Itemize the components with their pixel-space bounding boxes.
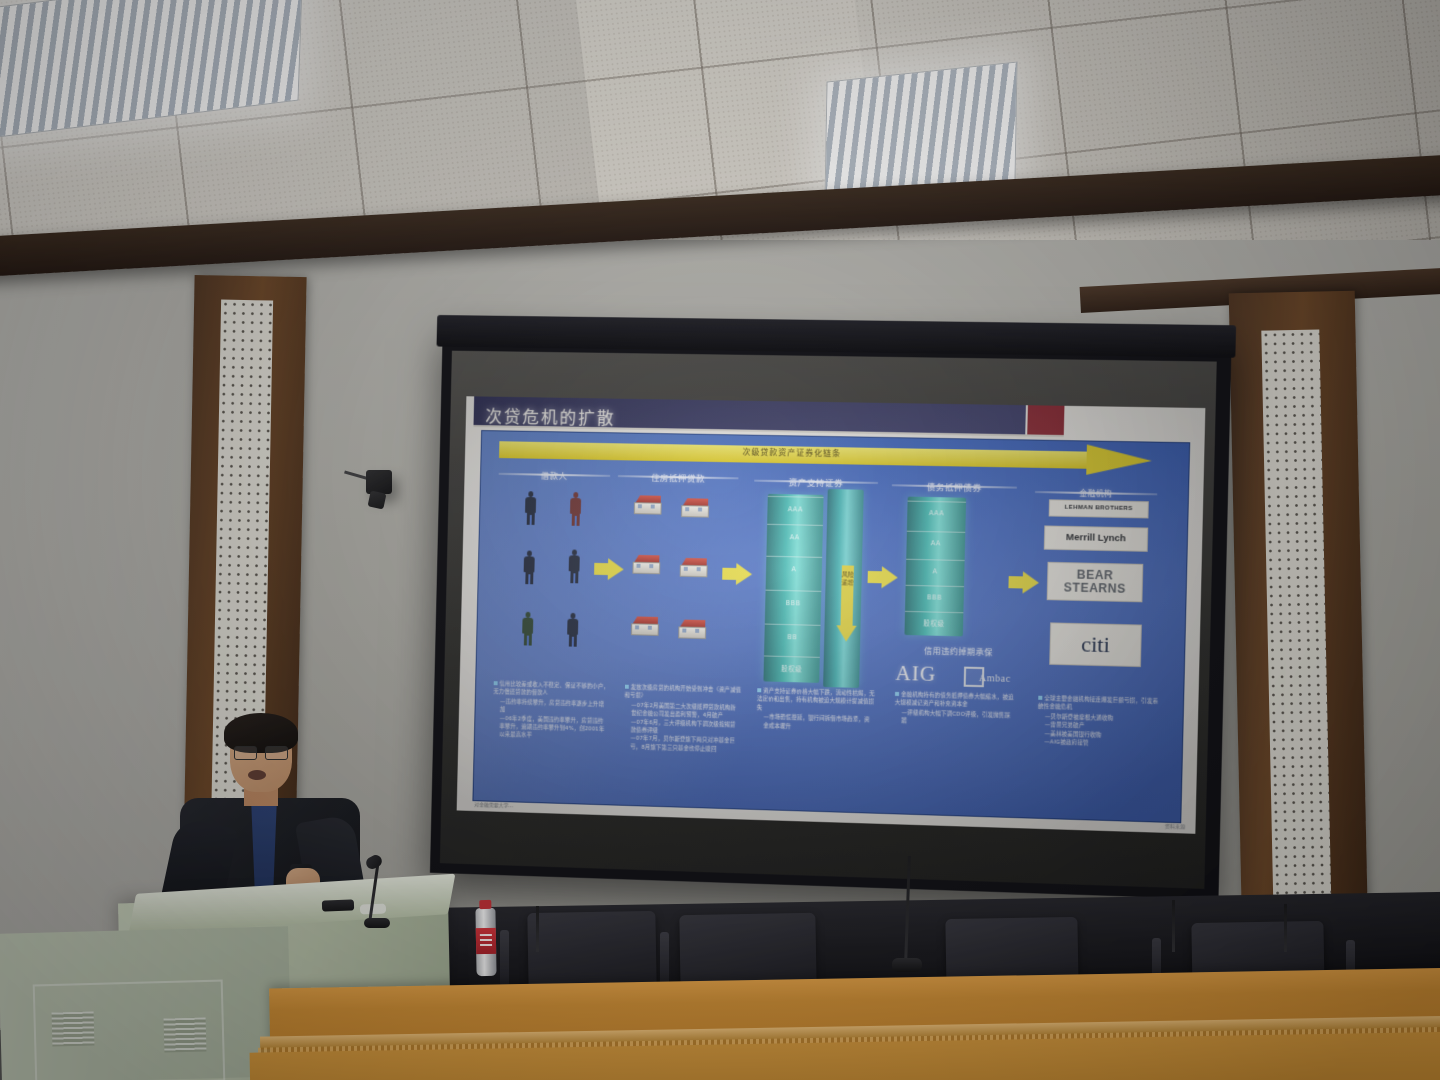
- house-icon: [679, 558, 707, 576]
- chair: [527, 911, 656, 991]
- tranche-label: A: [766, 556, 822, 582]
- water-bottle: [475, 908, 496, 976]
- podium-vent: [164, 1017, 207, 1052]
- bullet-column-mortgages: 发放次级房贷的机构开始受到冲击（资产减值和亏损） —07年2月美国第二大次级抵押…: [623, 684, 741, 755]
- house-icon: [631, 555, 659, 572]
- logo-bear-stearns: BEAR STEARNS: [1047, 562, 1144, 603]
- table-microphone-stem: [536, 906, 539, 952]
- tranche-label: AAA: [907, 501, 966, 525]
- bullet-column-abs: 资产支持证券价格大幅下跌，流动性枯竭，无法定价和出售，持有机构被迫大规模计提减值…: [756, 687, 875, 733]
- table-microphone-stem: [1284, 904, 1287, 952]
- bullet-column-institutions: 全球主要金融机构接连爆发巨额亏损，引发系统性金融危机 —贝尔斯登被摩根大通收购 …: [1037, 695, 1160, 750]
- tranche-label: BBB: [765, 590, 821, 616]
- tranche-label: BB: [764, 624, 820, 650]
- slide-footer-right: 资料来源: [1165, 823, 1186, 831]
- arrow-icon-borrowers-to-mortgages: [594, 558, 624, 580]
- presenter-mouth: [248, 770, 266, 780]
- projection-screen: 次贷危机的扩散 次级贷款资产证券化链条 借款人 住房抵押贷款 资产支持证券 债务…: [430, 321, 1232, 900]
- tranche-label: AAA: [767, 496, 823, 522]
- abs-tranche-stack: AAA AA A BBB BB 股权级: [763, 494, 823, 683]
- tranche-label: A: [906, 559, 965, 583]
- tranche-label: AA: [767, 524, 823, 550]
- house-icon: [680, 498, 708, 515]
- glasses-icon: [234, 746, 288, 758]
- bottle-cap: [479, 900, 491, 909]
- house-icon: [630, 616, 658, 634]
- house-icon: [633, 495, 661, 512]
- ambac-label: Ambac: [979, 673, 1011, 685]
- logo-merrill-lynch: Merrill Lynch: [1044, 525, 1148, 551]
- aig-logo: AIG: [895, 661, 936, 687]
- tranche-label: 股权级: [904, 611, 963, 635]
- borrower-silhouette-icon: [568, 549, 580, 583]
- borrower-silhouette-icon: [522, 612, 534, 646]
- table-microphone-base: [892, 958, 922, 972]
- diagram-board: 次级贷款资产证券化链条 借款人 住房抵押贷款 资产支持证券 债务抵押债券 金融机…: [472, 430, 1190, 823]
- projected-slide: 次贷危机的扩散 次级贷款资产证券化链条 借款人 住房抵押贷款 资产支持证券 债务…: [457, 396, 1206, 834]
- arrow-icon-abs-to-cdo: [867, 566, 898, 589]
- arrow-icon-mortgages-to-abs: [722, 563, 752, 586]
- borrower-silhouette-icon: [567, 613, 579, 647]
- wall-camera-icon: [366, 470, 392, 494]
- chair-post: [500, 930, 509, 986]
- slide-footer-left: 对金融需要大学…: [474, 801, 513, 809]
- podium-vent: [52, 1011, 95, 1046]
- house-icon: [677, 619, 705, 637]
- arrow-icon-cdo-to-institutions: [1008, 571, 1039, 594]
- bullet-column-cdo: 金融机构持有的债务抵押债券大幅缩水，被迫大规模减记资产和补充资本金 —评级机构大…: [894, 691, 1014, 729]
- slide-title: 次贷危机的扩散: [485, 402, 616, 429]
- clicker-on-podium: [322, 899, 354, 911]
- bottle-label: [476, 928, 496, 954]
- borrower-silhouette-icon: [523, 550, 535, 584]
- tranche-label: BBB: [905, 585, 964, 609]
- borrower-silhouette-icon: [525, 491, 537, 525]
- bullet-column-borrowers: 信用比较差或收入不稳定、保证不够的小户，无力偿还贷款的借款人 —违约率持续攀升，…: [492, 680, 609, 742]
- tranche-label: AA: [906, 531, 965, 555]
- ambac-logo: Ambac: [964, 667, 1025, 691]
- cdo-tranche-stack: AAA AA A BBB 股权级: [904, 497, 966, 637]
- podium-microphone-base: [364, 918, 390, 928]
- logo-citi: citi: [1049, 622, 1142, 667]
- tranche-label: 股权级: [763, 655, 819, 681]
- slide-title-accent: [1027, 405, 1064, 436]
- chair-post: [660, 932, 669, 986]
- table-microphone-stem: [1172, 900, 1175, 952]
- borrower-silhouette-icon: [570, 492, 582, 526]
- lecture-hall-photo: 次贷危机的扩散 次级贷款资产证券化链条 借款人 住房抵押贷款 资产支持证券 债务…: [0, 0, 1440, 1080]
- risk-arrow-label: 风险递增: [841, 571, 853, 587]
- logo-lehman-brothers: LEHMAN BROTHERS: [1049, 499, 1149, 518]
